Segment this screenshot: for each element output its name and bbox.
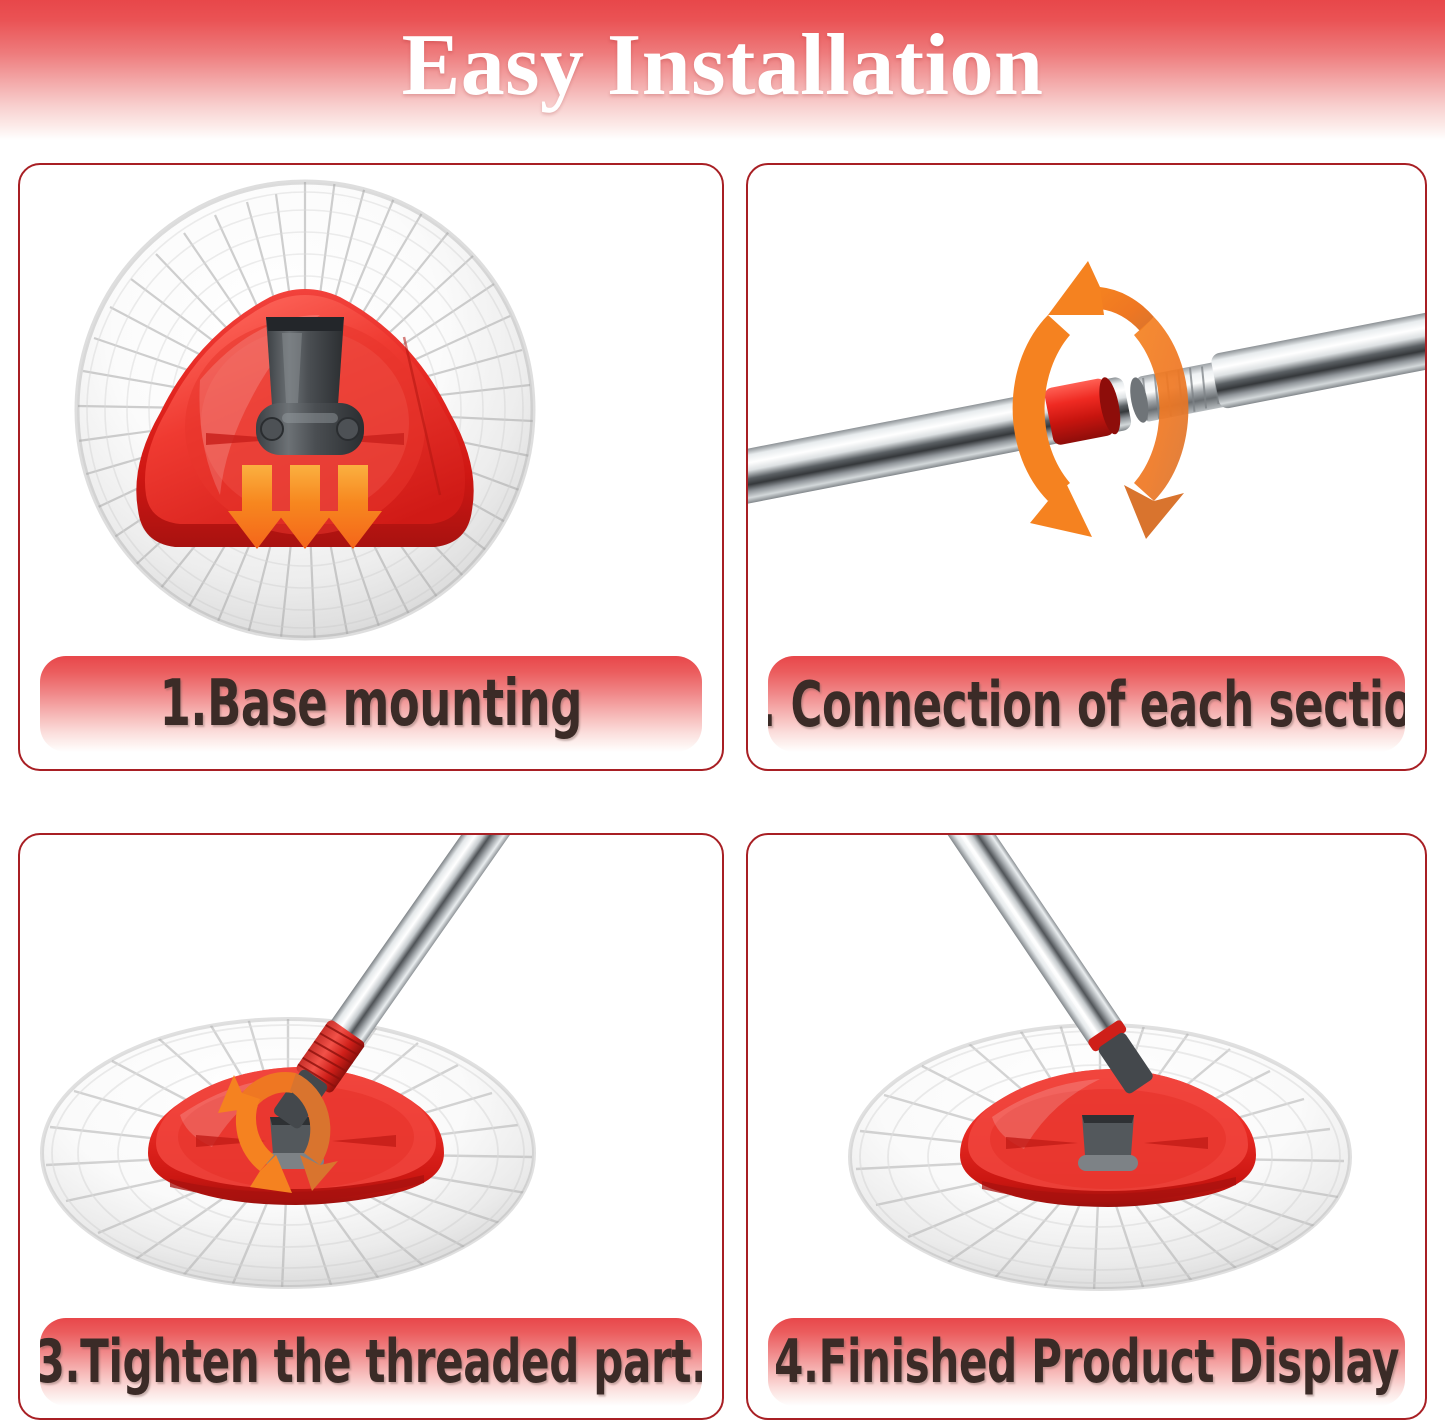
step-1-caption-text: 1.Base mounting bbox=[160, 667, 582, 741]
header-banner: Easy Installation bbox=[0, 0, 1445, 140]
step-panel-4: 4.Finished Product Display bbox=[746, 833, 1427, 1420]
step-4-caption-text: 4.Finished Product Display bbox=[774, 1327, 1399, 1397]
page-title: Easy Installation bbox=[0, 14, 1445, 118]
step-panel-2: 2. Connection of each section bbox=[746, 163, 1427, 771]
step-4-illustration bbox=[748, 835, 1425, 1310]
pole-thread-connection-icon bbox=[748, 165, 1425, 649]
step-4-caption-bar: 4.Finished Product Display bbox=[768, 1318, 1405, 1406]
step-1-illustration bbox=[20, 165, 722, 649]
step-3-caption-text: 3.Tighten the threaded part. bbox=[40, 1327, 702, 1397]
step-panel-3: 3.Tighten the threaded part. bbox=[18, 833, 724, 1420]
down-arrow-group bbox=[228, 465, 382, 549]
step-3-illustration bbox=[20, 835, 722, 1310]
step-panel-1: 1.Base mounting bbox=[18, 163, 724, 771]
tighten-threaded-joint-icon bbox=[20, 835, 722, 1310]
finished-assembled-mop-icon bbox=[748, 835, 1425, 1310]
step-2-caption-text: 2. Connection of each section bbox=[768, 668, 1405, 741]
step-3-caption-bar: 3.Tighten the threaded part. bbox=[40, 1318, 702, 1406]
mop-pad-with-base-plate-icon bbox=[20, 165, 722, 649]
step-1-caption-bar: 1.Base mounting bbox=[40, 656, 702, 752]
step-2-illustration bbox=[748, 165, 1425, 649]
step-2-caption-bar: 2. Connection of each section bbox=[768, 656, 1405, 752]
